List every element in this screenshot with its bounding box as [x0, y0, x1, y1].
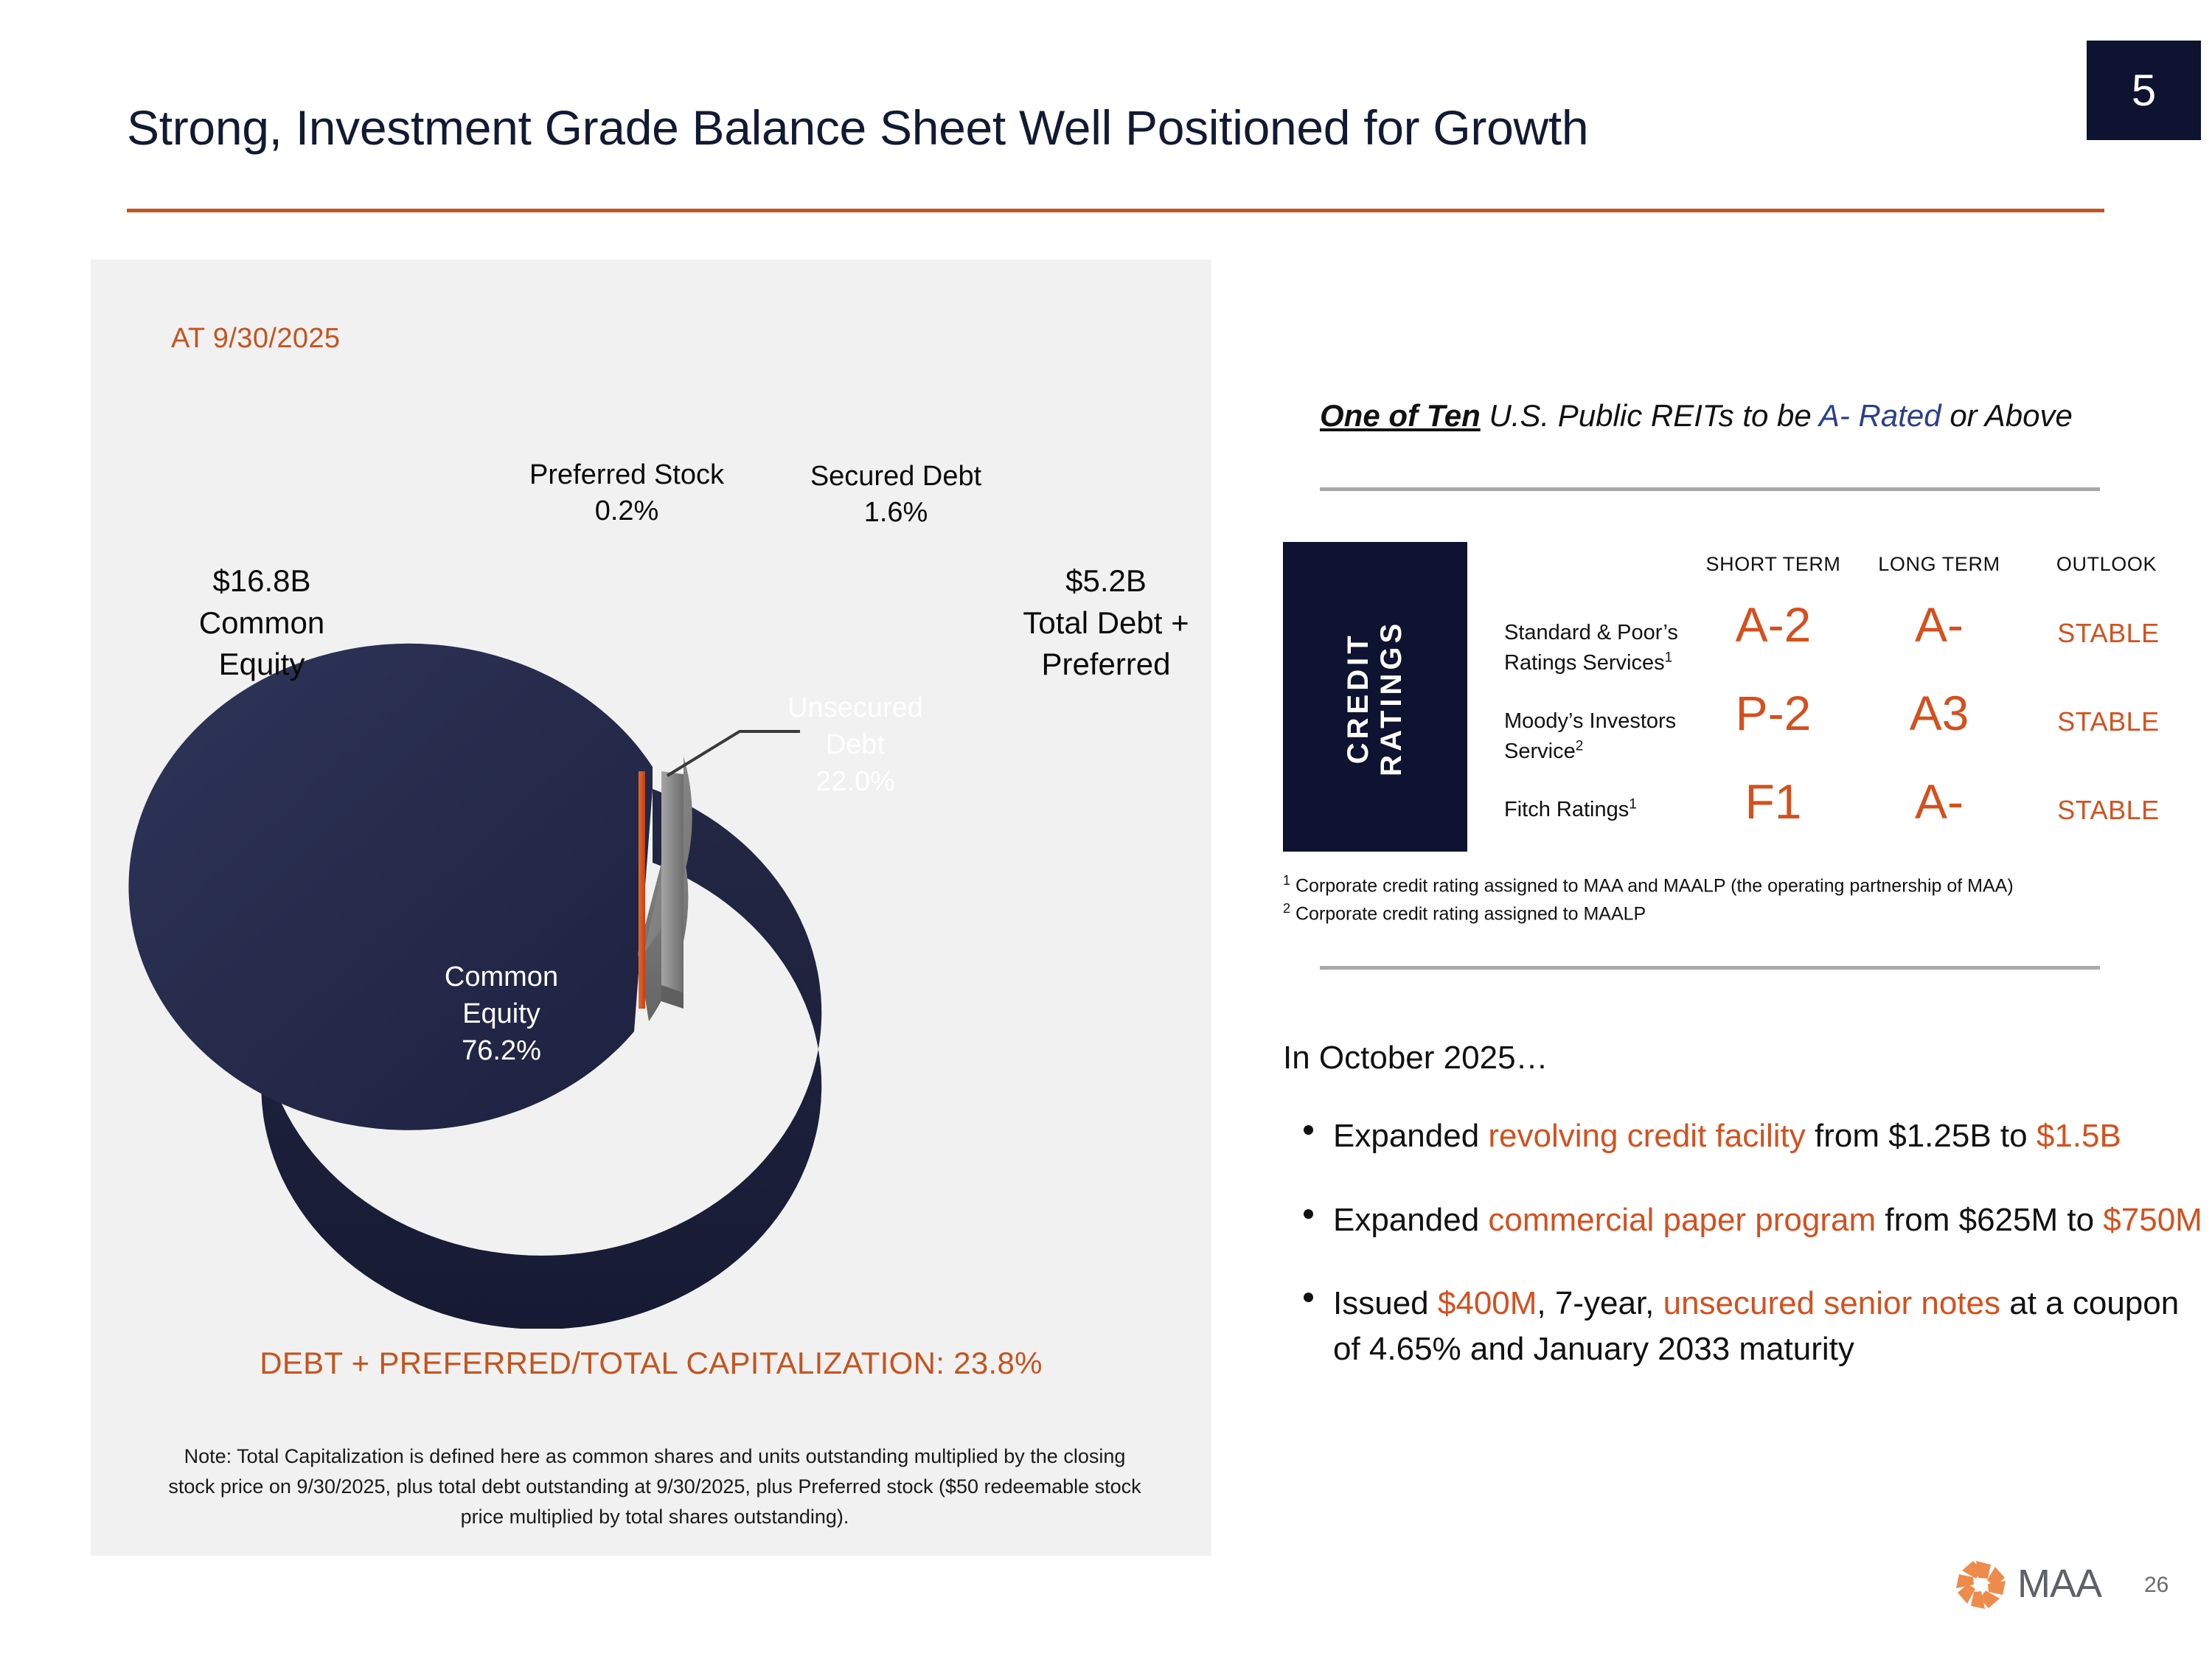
callout-common-equity-total: $16.8B Common Equity [140, 560, 383, 686]
column-header-long-term: LONG TERM [1865, 553, 2013, 576]
agency-label-text: Moody’s Investors Service [1504, 709, 1676, 763]
pie-callout-secured-debt: Secured Debt 1.6% [774, 459, 1018, 532]
footnote-1-marker: 1 [1283, 873, 1290, 888]
list-item: Expanded commercial paper program from $… [1283, 1197, 2205, 1243]
ratings-agency-name: Fitch Ratings1 [1504, 795, 1696, 825]
capitalization-pie-chart [91, 260, 1211, 1329]
section-divider-top [1320, 487, 2100, 491]
bullet-dot-icon [1304, 1125, 1313, 1135]
reit-rating-headline: One of Ten U.S. Public REITs to be A- Ra… [1320, 398, 2073, 434]
maa-logo-mark-icon [1956, 1561, 2006, 1609]
agency-footnote-marker: 1 [1629, 796, 1637, 812]
ratings-footnotes: 1 Corporate credit rating assigned to MA… [1283, 872, 2205, 928]
october-update-heading: In October 2025… [1283, 1040, 1548, 1077]
credit-ratings-tab: CREDITRATINGS [1283, 542, 1467, 852]
reit-headline-tail: or Above [1950, 398, 2073, 433]
callout-total-debt-preferred: $5.2B Total Debt + Preferred [959, 560, 1253, 686]
rating-long-term: A- [1865, 777, 2013, 826]
callout-total-debt-line2: Total Debt + [959, 602, 1253, 644]
rating-long-term: A- [1865, 600, 2013, 649]
section-divider-bottom [1320, 966, 2100, 970]
callout-common-equity-line3: Equity [140, 644, 383, 686]
capitalization-note: Note: Total Capitalization is defined he… [164, 1441, 1145, 1532]
rating-outlook: STABLE [2029, 706, 2188, 737]
pie-callout-preferred-stock-value: 0.2% [501, 493, 752, 529]
pie-inner-label-common-equity: Common Equity 76.2% [391, 959, 612, 1069]
footer-page-number: 26 [2144, 1573, 2168, 1598]
ratings-agency-name: Moody’s Investors Service2 [1504, 706, 1696, 767]
rating-short-term: F1 [1696, 777, 1851, 826]
column-header-outlook: OUTLOOK [2029, 553, 2184, 576]
table-row: Fitch Ratings1 F1 A- STABLE [1467, 782, 2205, 874]
ratings-agency-name: Standard & Poor’s Ratings Services1 [1504, 618, 1696, 678]
pie-chart-svg [91, 260, 1211, 1329]
rating-outlook: STABLE [2029, 618, 2188, 649]
column-header-short-term: SHORT TERM [1696, 553, 1851, 576]
callout-common-equity-line2: Common [140, 602, 383, 644]
bullet-text: Expanded commercial paper program from $… [1333, 1202, 2202, 1238]
agency-label-text: Standard & Poor’s Ratings Services [1504, 621, 1678, 675]
capitalization-ratio-caption: DEBT + PREFERRED/TOTAL CAPITALIZATION: 2… [91, 1346, 1211, 1381]
rating-outlook: STABLE [2029, 795, 2188, 826]
page-title: Strong, Investment Grade Balance Sheet W… [127, 100, 1588, 156]
reit-headline-rating: A- Rated [1819, 398, 1941, 433]
footnote-2-text: Corporate credit rating assigned to MAAL… [1295, 903, 1646, 924]
maa-logo-wordmark: MAA [2017, 1562, 2102, 1606]
footnote-1: 1 Corporate credit rating assigned to MA… [1283, 872, 2205, 900]
pie-slice-secured-debt [661, 771, 684, 992]
agency-footnote-marker: 2 [1576, 739, 1584, 754]
bullet-dot-icon [1304, 1209, 1313, 1219]
table-row: Moody’s Investors Service2 P-2 A3 STABLE [1467, 693, 2205, 785]
agency-label-text: Fitch Ratings [1504, 798, 1629, 821]
rating-long-term: A3 [1865, 689, 2013, 737]
pie-callout-secured-debt-value: 1.6% [774, 495, 1018, 531]
credit-ratings-tab-label: CREDITRATINGS [1342, 543, 1408, 853]
callout-common-equity-amount: $16.8B [140, 560, 383, 602]
footnote-2: 2 Corporate credit rating assigned to MA… [1283, 900, 2205, 928]
table-row: Standard & Poor’s Ratings Services1 A-2 … [1467, 605, 2205, 697]
maa-logo: MAA [1952, 1554, 2122, 1615]
pie-inner-unsecured-value: 22.0% [745, 763, 966, 800]
october-update-bullets: Expanded revolving credit facility from … [1283, 1113, 2205, 1410]
pie-inner-unsecured-line1: Unsecured [745, 689, 966, 726]
footnote-1-text: Corporate credit rating assigned to MAA … [1295, 875, 2014, 896]
slide-number-value: 5 [2132, 65, 2156, 116]
rating-short-term: P-2 [1696, 689, 1851, 737]
agency-footnote-marker: 1 [1665, 650, 1673, 666]
pie-callout-preferred-stock: Preferred Stock 0.2% [501, 457, 752, 530]
callout-total-debt-amount: $5.2B [959, 560, 1253, 602]
rating-short-term: A-2 [1696, 600, 1851, 649]
pie-slice-preferred-stock [639, 771, 645, 1009]
footnote-2-marker: 2 [1283, 901, 1290, 916]
callout-total-debt-line3: Preferred [959, 644, 1253, 686]
reit-headline-emphasis: One of Ten [1320, 398, 1481, 433]
reit-headline-mid: U.S. Public REITs to be [1489, 398, 1811, 433]
pie-callout-preferred-stock-label: Preferred Stock [501, 457, 752, 493]
pie-inner-common-line1: Common [391, 959, 612, 995]
bullet-text: Issued $400M, 7-year, unsecured senior n… [1333, 1285, 2179, 1367]
pie-inner-common-value: 76.2% [391, 1032, 612, 1069]
pie-callout-secured-debt-label: Secured Debt [774, 459, 1018, 495]
pie-inner-unsecured-line2: Debt [745, 726, 966, 763]
pie-inner-label-unsecured-debt: Unsecured Debt 22.0% [745, 689, 966, 800]
list-item: Expanded revolving credit facility from … [1283, 1113, 2205, 1159]
pie-inner-common-line2: Equity [391, 995, 612, 1032]
bullet-dot-icon [1304, 1293, 1313, 1302]
slide-number-badge: 5 [2087, 41, 2201, 140]
bullet-text: Expanded revolving credit facility from … [1333, 1118, 2121, 1154]
list-item: Issued $400M, 7-year, unsecured senior n… [1283, 1281, 2205, 1371]
title-divider [127, 209, 2104, 212]
